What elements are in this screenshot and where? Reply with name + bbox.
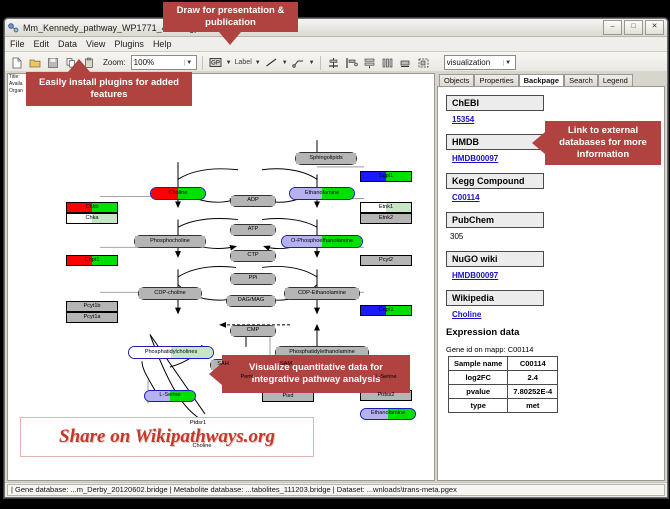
backpage-link[interactable]: C00114: [452, 193, 656, 202]
distribute-icon[interactable]: [380, 55, 395, 70]
zoom-value: 100%: [134, 58, 184, 67]
label-dropdown[interactable]: ▼: [255, 60, 261, 66]
label-tool-label[interactable]: Label: [235, 59, 252, 66]
gene-node-etnk1[interactable]: Etnk1: [360, 202, 412, 213]
gene-node-chkb[interactable]: Chkb: [66, 202, 118, 213]
backpage-header: HMDB: [446, 134, 544, 150]
metabolite-node-ppi[interactable]: PPi: [230, 273, 276, 285]
table-row: log2FC2.4: [449, 371, 558, 385]
save-icon[interactable]: [45, 55, 60, 70]
zoom-label: Zoom:: [103, 58, 126, 67]
callout-share: Share on Wikipathways.org: [20, 417, 314, 457]
connector-icon[interactable]: [291, 55, 306, 70]
menu-edit[interactable]: Edit: [34, 39, 50, 49]
metabolite-node-o-phosphoethanolamine[interactable]: O-Phosphoethanolamine: [281, 235, 363, 248]
backpage-link[interactable]: Choline: [452, 310, 656, 319]
backpage-header: ChEBI: [446, 95, 544, 111]
callout-link: Link to external databases for more info…: [545, 121, 661, 165]
metabolite-node-choline[interactable]: Choline: [150, 187, 206, 200]
svg-text:GP: GP: [211, 61, 220, 67]
tab-search[interactable]: Search: [564, 74, 598, 86]
statusbar: | Gene database: ...m_Derby_20120602.bri…: [5, 482, 667, 497]
visualization-combo[interactable]: visualization ▼: [444, 55, 516, 70]
backpage-section: ChEBI15354: [446, 93, 656, 124]
gene-node-chka[interactable]: Chka: [66, 213, 118, 224]
backpage-section: WikipediaCholine: [446, 288, 656, 319]
backpage-link[interactable]: HMDB00097: [452, 271, 656, 280]
metabolite-node-dag-mag[interactable]: DAG/MAG: [226, 295, 276, 307]
gene-node-etnk2[interactable]: Etnk2: [360, 213, 412, 224]
metabolite-node-adp[interactable]: ADP: [230, 195, 276, 207]
table-cell: Sample name: [449, 357, 508, 371]
table-row: typemet: [449, 399, 558, 413]
gene-node-cept1[interactable]: Cept1: [360, 305, 412, 316]
callout-draw: Draw for presentation & publication: [163, 2, 298, 32]
align-left-icon[interactable]: [344, 55, 359, 70]
table-cell: met: [508, 399, 558, 413]
gene-node-pcyt1b[interactable]: Pcyt1b: [66, 301, 118, 312]
callout-link-arrow: [532, 132, 545, 154]
minimize-button[interactable]: –: [603, 20, 622, 35]
metabolite-node-sphingolipids[interactable]: Sphingolipids: [295, 152, 357, 165]
menu-data[interactable]: Data: [58, 39, 77, 49]
line-dropdown[interactable]: ▼: [282, 60, 288, 66]
callout-draw-arrow: [219, 32, 241, 45]
backpage-section: Kegg CompoundC00114: [446, 171, 656, 202]
toolbar-separator-2: [320, 56, 321, 70]
backpage-header: Wikipedia: [446, 290, 544, 306]
callout-plugins-arrow: [68, 59, 90, 72]
gene-node-sgpl1[interactable]: Sgpl1: [360, 171, 412, 182]
statusbar-text: | Gene database: ...m_Derby_20120602.bri…: [7, 484, 665, 496]
metabolite-node-cdp-ethanolamine[interactable]: CDP-Ethanolamine: [284, 287, 360, 300]
backpage-header: NuGO wiki: [446, 251, 544, 267]
table-cell: 2.4: [508, 371, 558, 385]
metabolite-node-phosphocholine[interactable]: Phosphocholine: [134, 235, 206, 248]
screenshot-root: Mm_Kennedy_pathway_WP1771_45176.gpml – □…: [0, 0, 670, 509]
maximize-button[interactable]: □: [624, 20, 643, 35]
tab-backpage[interactable]: Backpage: [519, 74, 564, 86]
backpage-header: Kegg Compound: [446, 173, 544, 189]
callout-plugins: Easily install plugins for added feature…: [26, 72, 192, 106]
chevron-down-icon[interactable]: ▼: [184, 60, 194, 66]
gene-node-pcyt2[interactable]: Pcyt2: [360, 255, 412, 266]
pathvisio-icon: [8, 22, 19, 33]
table-cell: log2FC: [449, 371, 508, 385]
tab-legend[interactable]: Legend: [598, 74, 633, 86]
new-file-icon[interactable]: [9, 55, 24, 70]
gene-id-line: Gene id on mapp: C00114: [446, 345, 656, 354]
window-controls[interactable]: – □ ✕: [603, 20, 664, 35]
tab-objects[interactable]: Objects: [439, 74, 474, 86]
geneproduct-icon[interactable]: GP: [208, 55, 223, 70]
connector-dropdown[interactable]: ▼: [309, 60, 315, 66]
table-row: Sample nameC00114: [449, 357, 558, 371]
share-text: Share on Wikipathways.org: [59, 426, 275, 448]
zoom-combo[interactable]: 100% ▼: [131, 55, 197, 70]
close-button[interactable]: ✕: [645, 20, 664, 35]
menubar: File Edit Data View Plugins Help: [5, 37, 667, 52]
toolbar-separator: [202, 56, 203, 70]
visualization-value: visualization: [447, 58, 503, 67]
ungroup-icon[interactable]: [416, 55, 431, 70]
tab-properties[interactable]: Properties: [474, 74, 518, 86]
table-cell: type: [449, 399, 508, 413]
metabolite-node-phosphatidylcholines[interactable]: Phosphatidylcholines: [128, 346, 214, 359]
metabolite-node-cdp-choline[interactable]: CDP-choline: [138, 287, 202, 300]
metabolite-node-ethanolamine[interactable]: Ethanolamine: [289, 187, 355, 200]
geneproduct-dropdown[interactable]: ▼: [226, 60, 232, 66]
menu-file[interactable]: File: [10, 39, 25, 49]
table-cell: C00114: [508, 357, 558, 371]
window-titlebar: Mm_Kennedy_pathway_WP1771_45176.gpml – □…: [5, 19, 667, 37]
metabolite-node-atp[interactable]: ATP: [230, 224, 276, 236]
table-row: pvalue7.80252E-4: [449, 385, 558, 399]
table-cell: pvalue: [449, 385, 508, 399]
backpage-section: NuGO wikiHMDB00097: [446, 249, 656, 280]
backpage-section: PubChem305: [446, 210, 656, 241]
align-center-icon[interactable]: [326, 55, 341, 70]
side-panel-tabs[interactable]: ObjectsPropertiesBackpageSearchLegend: [437, 73, 665, 86]
expression-data-title: Expression data: [446, 327, 656, 338]
menu-view[interactable]: View: [86, 39, 105, 49]
menu-help[interactable]: Help: [153, 39, 172, 49]
stack-icon[interactable]: [362, 55, 377, 70]
gene-node-pcyt1a[interactable]: Pcyt1a: [66, 312, 118, 323]
metabolite-node-ctp[interactable]: CTP: [230, 250, 276, 262]
line-icon[interactable]: [264, 55, 279, 70]
open-folder-icon[interactable]: [27, 55, 42, 70]
metabolite-node-ethanolamine[interactable]: Ethanolamine: [360, 408, 416, 420]
backpage-header: PubChem: [446, 212, 544, 228]
backpage-value: 305: [450, 232, 656, 241]
group-icon[interactable]: [398, 55, 413, 70]
expression-data-table: Sample nameC00114log2FC2.4pvalue7.80252E…: [448, 356, 558, 413]
chevron-down-icon-2[interactable]: ▼: [503, 60, 513, 66]
menu-plugins[interactable]: Plugins: [114, 39, 144, 49]
metabolite-node-cmp[interactable]: CMP: [230, 325, 276, 337]
metabolite-node-l-serine[interactable]: L-Serine: [144, 390, 196, 402]
table-cell: 7.80252E-4: [508, 385, 558, 399]
gene-node-chpt1[interactable]: Chpt1: [66, 255, 118, 266]
